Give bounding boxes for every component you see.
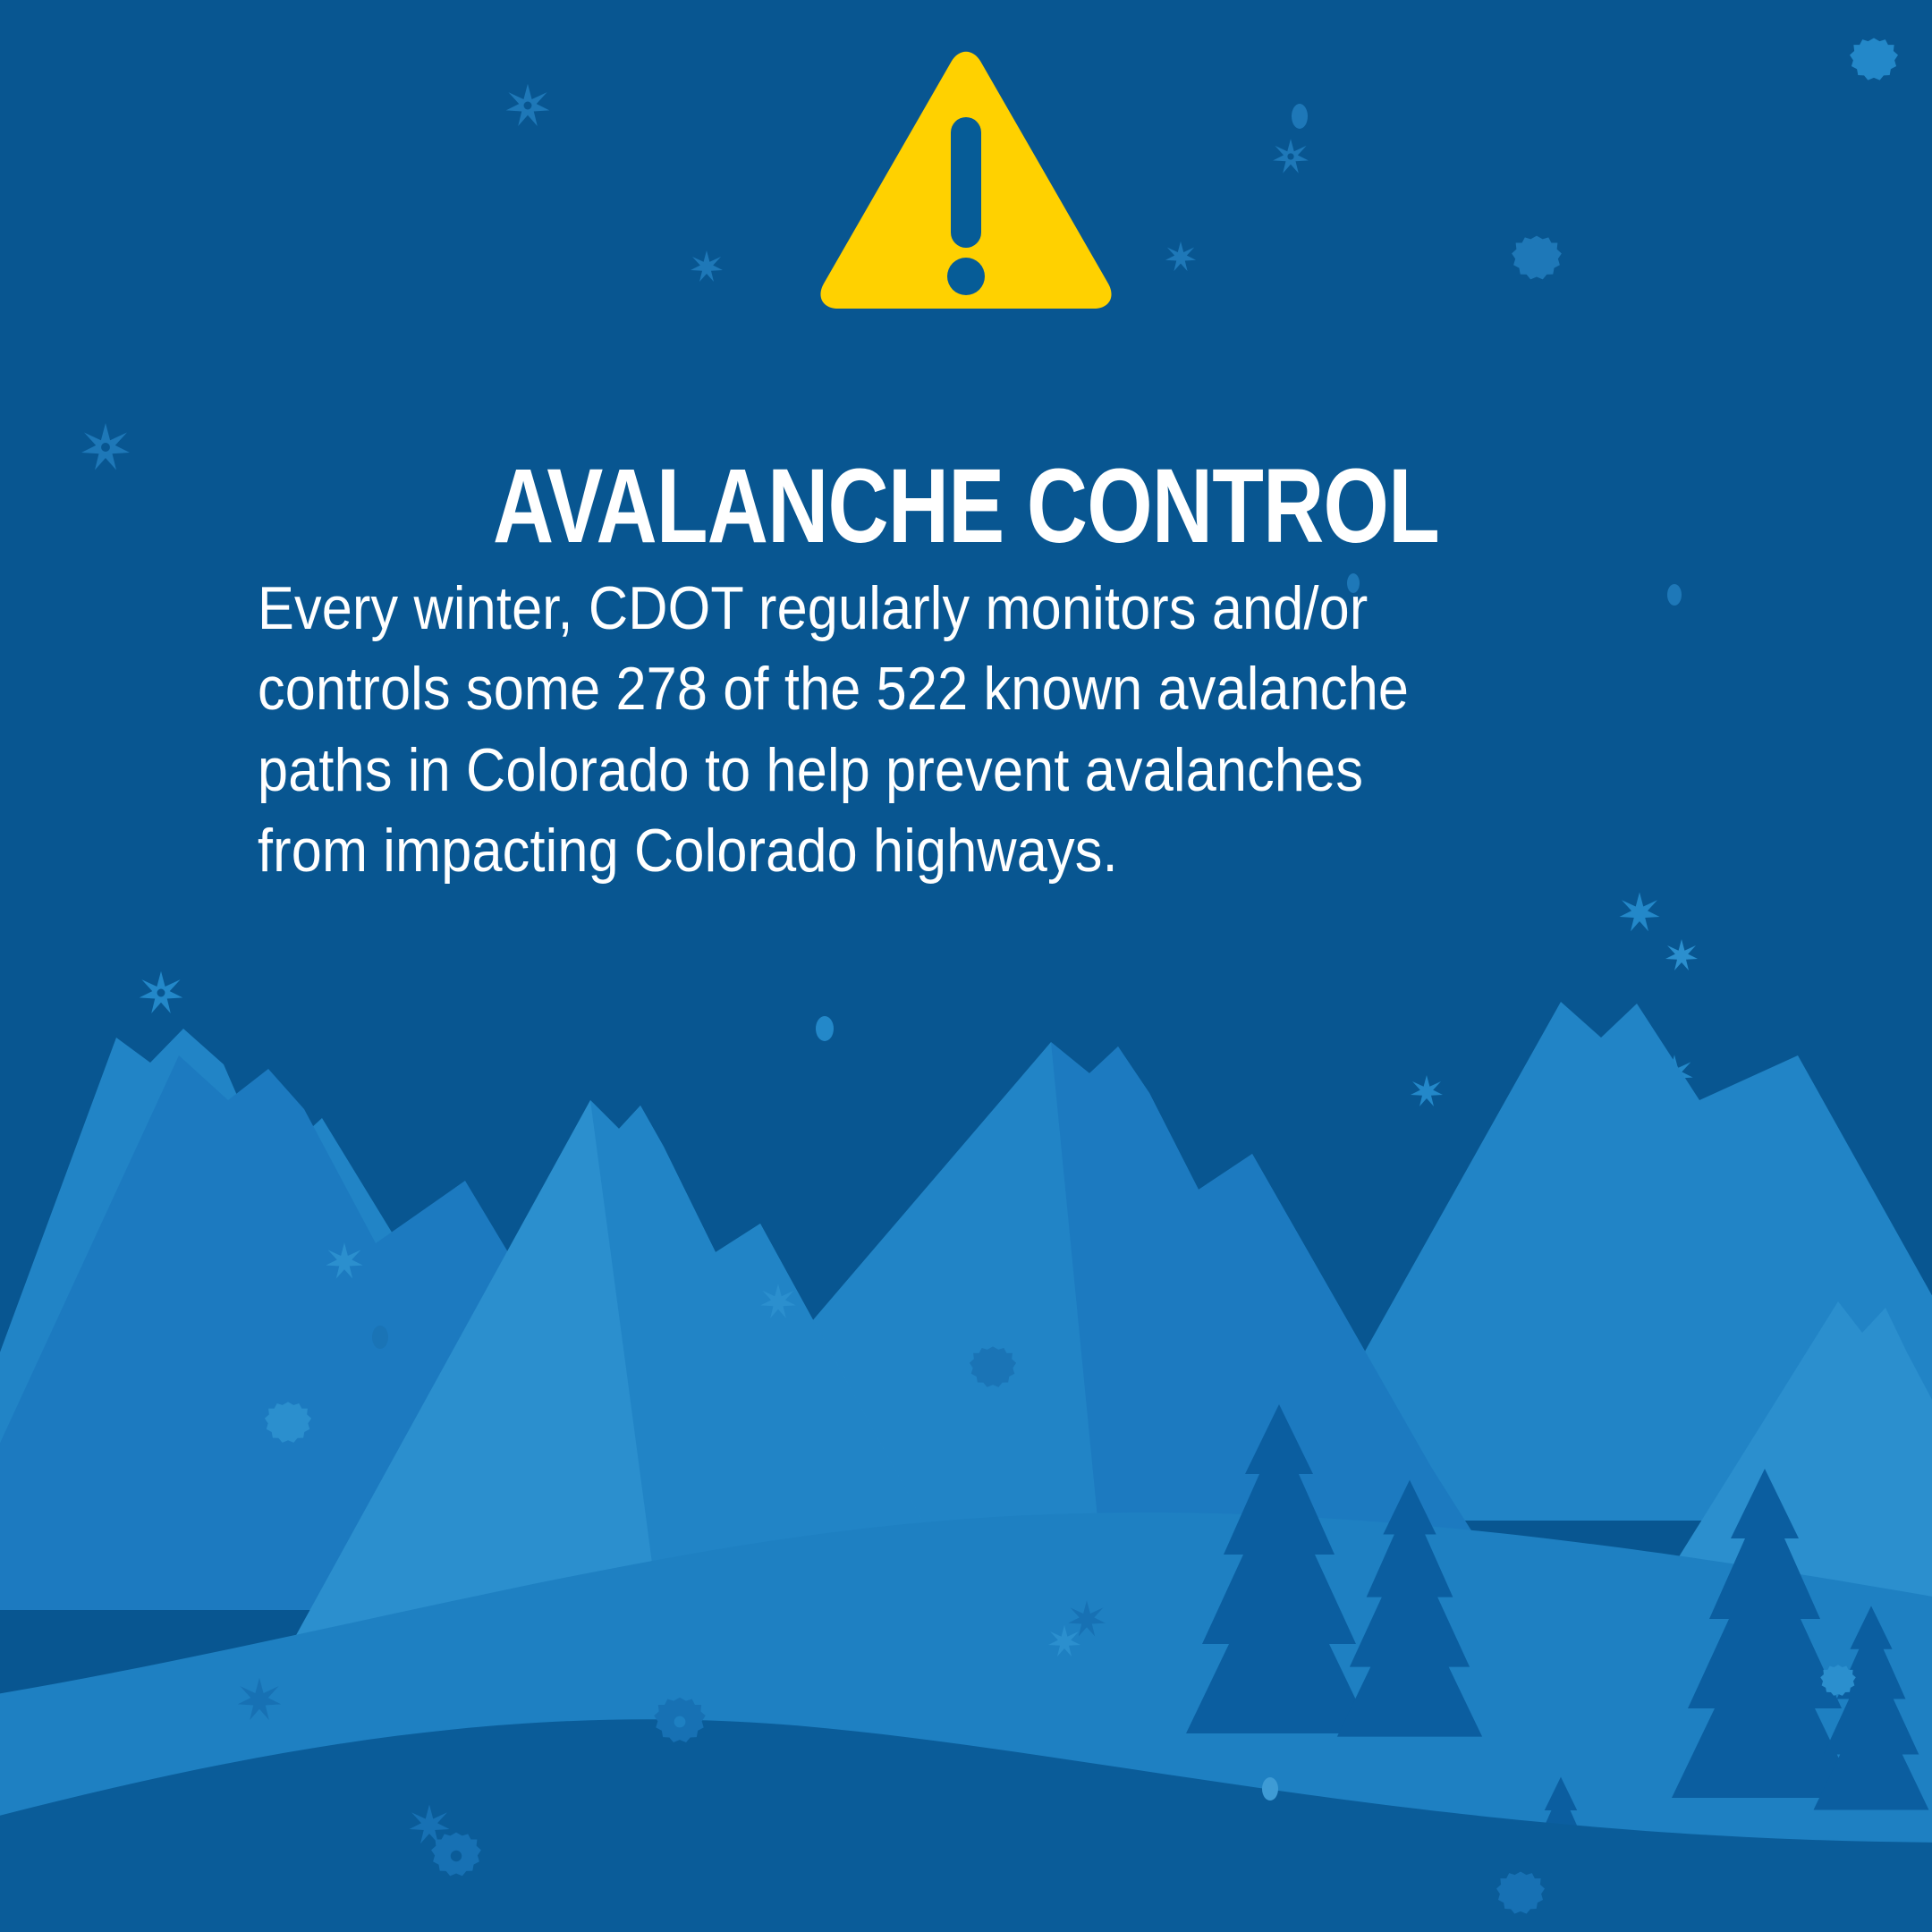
body-line: Every winter, CDOT regularly monitors an…: [258, 568, 1562, 648]
exclamation-dot: [947, 258, 985, 295]
body-copy: Every winter, CDOT regularly monitors an…: [258, 568, 1562, 892]
exclamation-bar: [951, 117, 981, 248]
body-line: from impacting Colorado highways.: [258, 810, 1562, 891]
page-title: AVALANCHE CONTROL: [193, 453, 1739, 559]
body-line: paths in Colorado to help prevent avalan…: [258, 730, 1562, 810]
infographic-canvas: AVALANCHE CONTROL Every winter, CDOT reg…: [0, 0, 1932, 1932]
body-line: controls some 278 of the 522 known avala…: [258, 648, 1562, 729]
warning-triangle-icon: [818, 49, 1114, 309]
warning-icon-container: [0, 49, 1932, 335]
